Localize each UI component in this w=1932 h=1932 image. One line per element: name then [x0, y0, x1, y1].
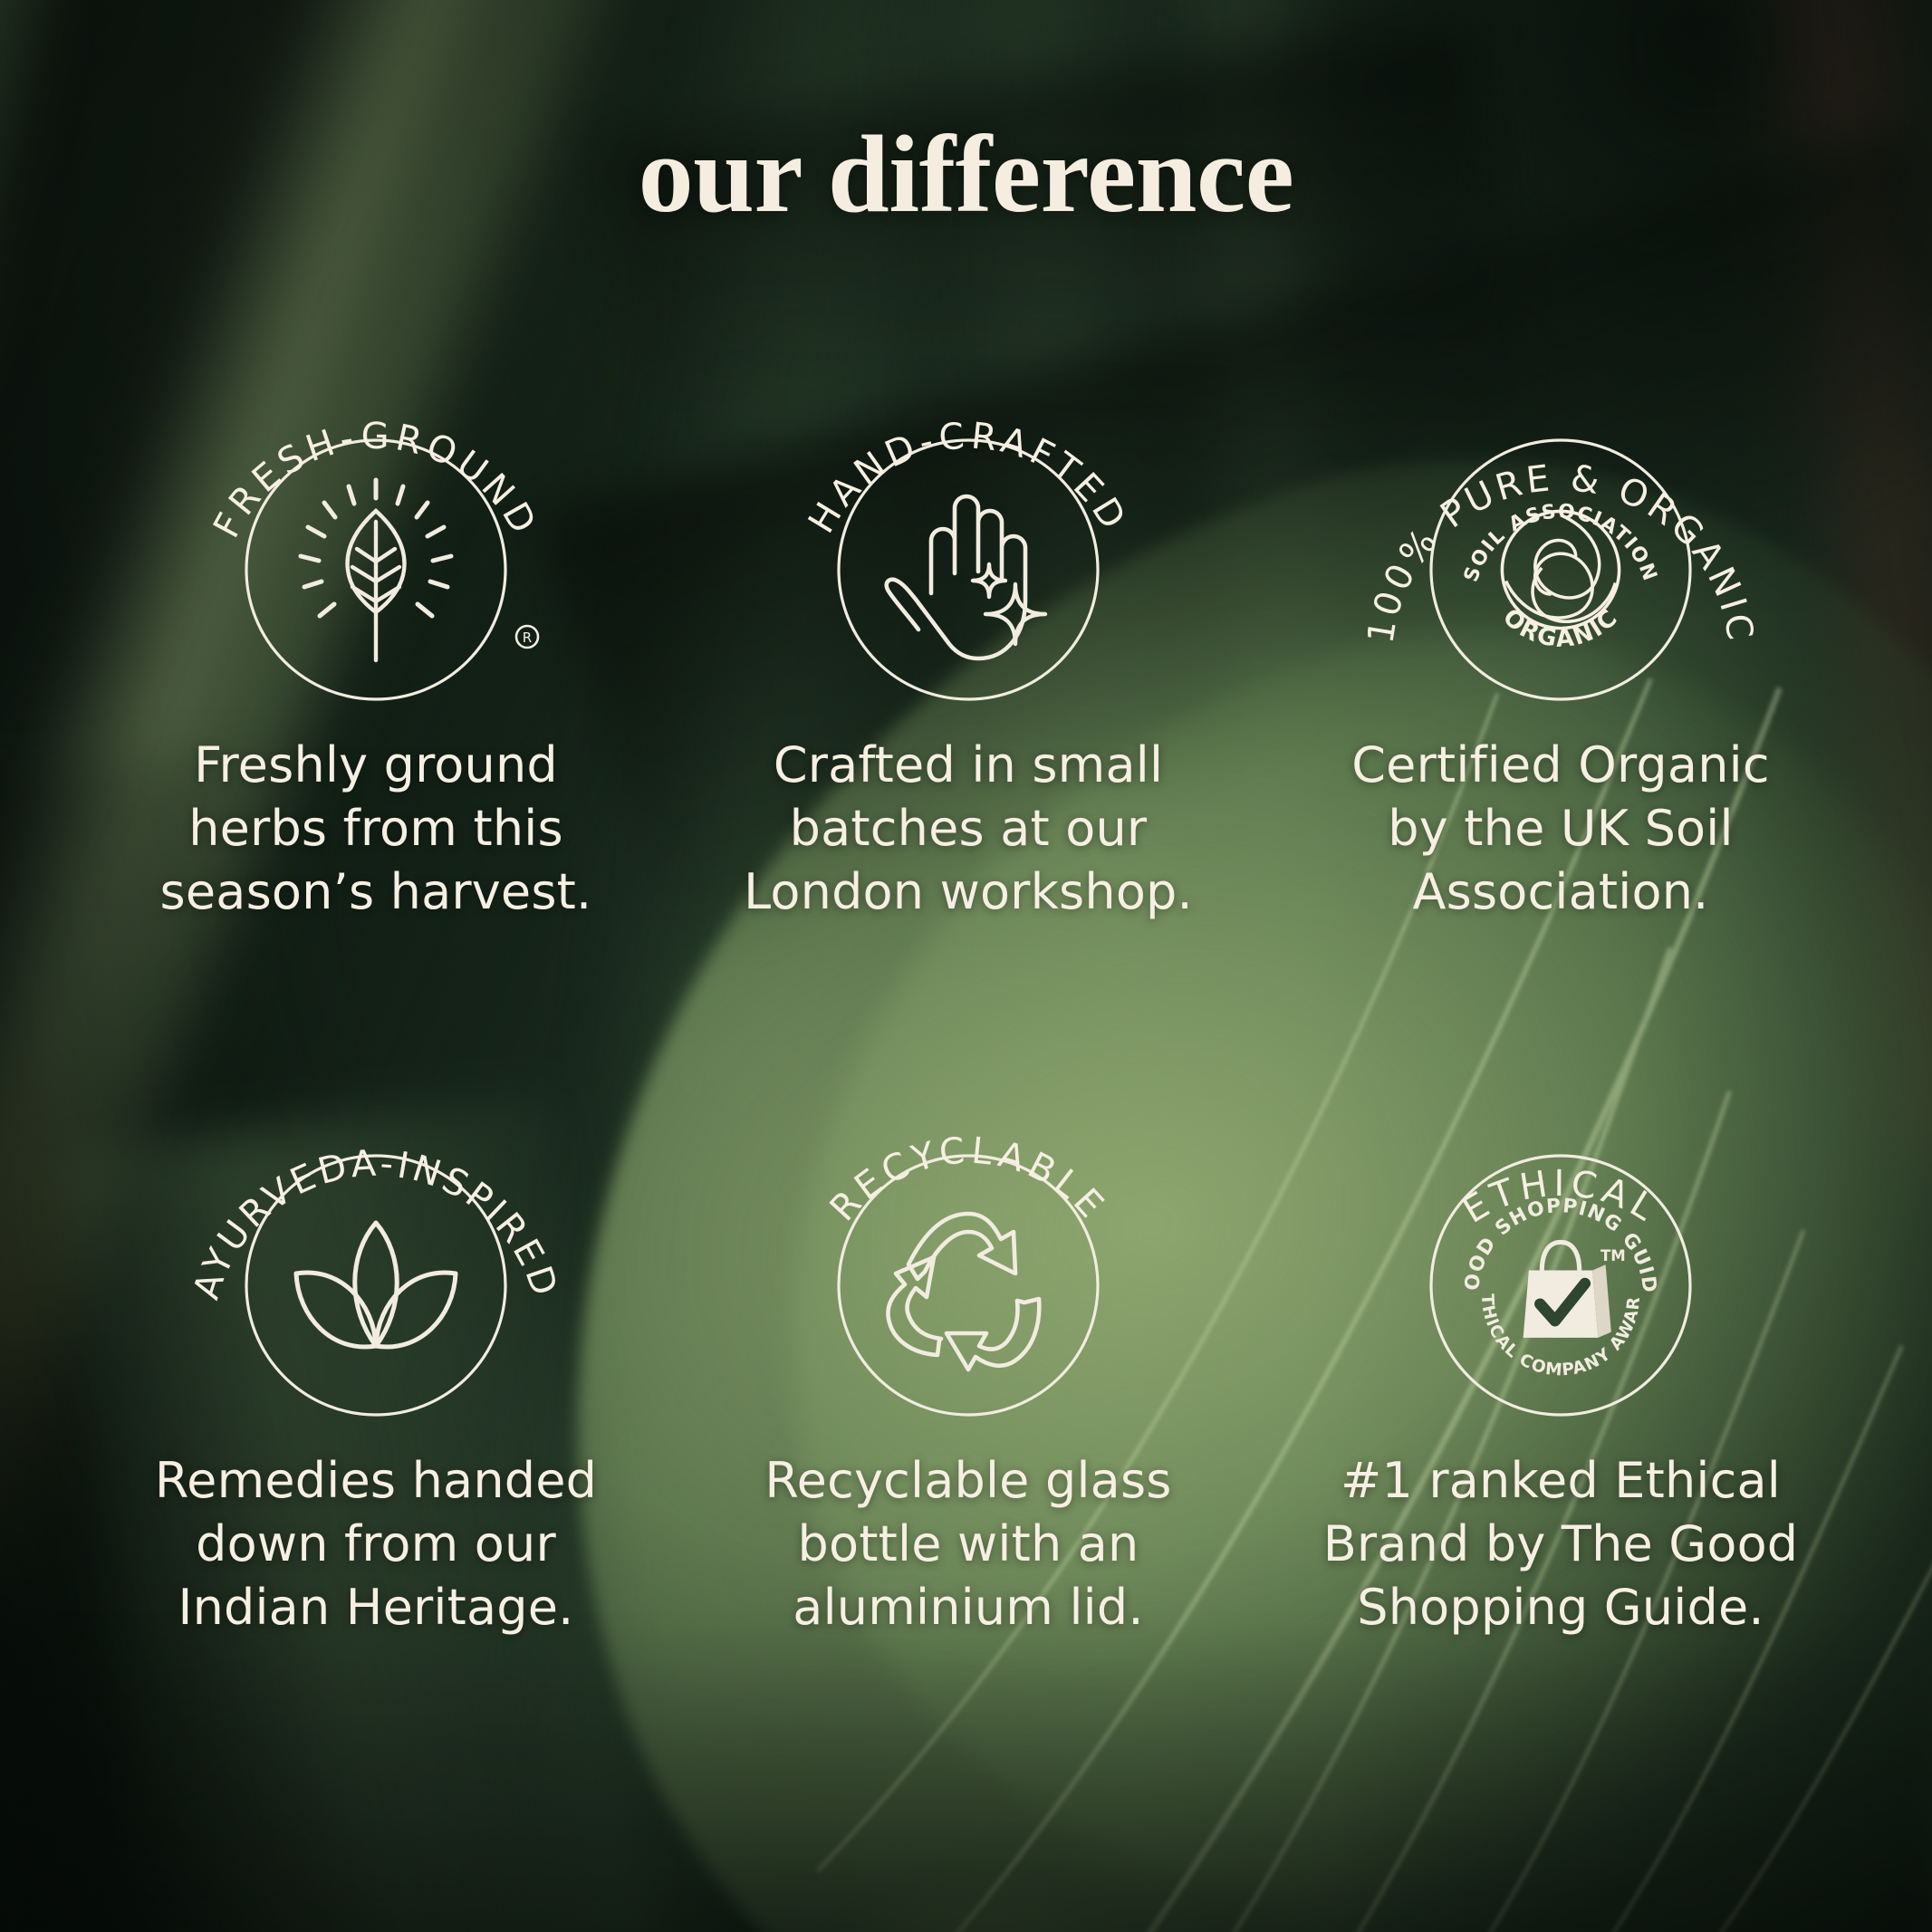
badge-medallion: ETHICAL GOOD SHOPPING GUIDE ETHICAL C: [1307, 1051, 1814, 1445]
caption-line: bottle with an: [715, 1513, 1222, 1576]
badge-caption: Remedies handed down from our Indian Her…: [122, 1449, 630, 1640]
recycling-arrows-icon: [855, 1172, 1081, 1399]
open-hand-with-sparkles-icon: [855, 457, 1081, 683]
badge-fresh-ground[interactable]: FRESH-GROUND R: [122, 335, 630, 729]
caption-line: season’s harvest.: [122, 860, 630, 924]
soil-association-top-text: SOIL ASSOCIATION: [1460, 500, 1661, 584]
shopping-bag-icon: [1523, 1242, 1611, 1337]
svg-text:R: R: [523, 630, 532, 646]
svg-text:SOIL ASSOCIATION: SOIL ASSOCIATION: [1460, 500, 1661, 584]
caption-line: Remedies handed: [122, 1449, 630, 1513]
caption-line: Indian Heritage.: [122, 1576, 630, 1639]
badge-pure-organic[interactable]: 100% PURE & ORGANIC SOIL ASSOCIATION: [1307, 335, 1814, 729]
caption-line: batches at our: [715, 797, 1222, 860]
page-title: our difference: [0, 120, 1932, 230]
caption-line: down from our: [122, 1513, 630, 1576]
badge-hand-crafted[interactable]: HAND-CRAFTED Crafted: [715, 335, 1222, 729]
badge-ethical[interactable]: ETHICAL GOOD SHOPPING GUIDE ETHICAL C: [1307, 1051, 1814, 1445]
badge-caption: #1 ranked Ethical Brand by The Good Shop…: [1307, 1449, 1814, 1640]
caption-line: Recyclable glass: [715, 1449, 1222, 1513]
caption-line: #1 ranked Ethical: [1307, 1449, 1814, 1513]
badge-medallion: RECYCLABLE: [715, 1051, 1222, 1445]
badge-ayurveda-inspired[interactable]: AYURVEDA-INSPIRED Remedies handed down: [122, 1051, 630, 1445]
badge-caption: Recyclable glass bottle with an aluminiu…: [715, 1449, 1222, 1640]
caption-line: Association.: [1307, 860, 1814, 924]
caption-line: by the UK Soil: [1307, 797, 1814, 860]
leaf-with-rays-icon: [263, 457, 489, 683]
caption-line: Brand by The Good: [1307, 1513, 1814, 1576]
caption-line: Freshly ground: [122, 734, 630, 797]
badge-medallion: 100% PURE & ORGANIC SOIL ASSOCIATION: [1307, 335, 1814, 729]
gsg-trademark: TM: [1600, 1247, 1626, 1264]
badge-caption: Certified Organic by the UK Soil Associa…: [1307, 734, 1814, 925]
caption-line: Crafted in small: [715, 734, 1222, 797]
badge-medallion: FRESH-GROUND R: [122, 335, 630, 729]
caption-line: herbs from this: [122, 797, 630, 860]
badge-caption: Freshly ground herbs from this season’s …: [122, 734, 630, 925]
registered-trademark-icon: R: [516, 626, 538, 648]
caption-line: aluminium lid.: [715, 1576, 1222, 1639]
badge-medallion: HAND-CRAFTED: [715, 335, 1222, 729]
good-shopping-guide-award-icon: GOOD SHOPPING GUIDE ETHICAL COMPANY AWAR…: [1447, 1172, 1674, 1399]
lotus-leaves-icon: [263, 1172, 489, 1399]
caption-line: London workshop.: [715, 860, 1222, 924]
badge-medallion: AYURVEDA-INSPIRED: [122, 1051, 630, 1445]
soil-association-organic-icon: SOIL ASSOCIATION ORGANIC: [1447, 457, 1674, 683]
caption-line: Shopping Guide.: [1307, 1576, 1814, 1639]
badge-recyclable[interactable]: RECYCLABLE Recyclable glass bottle with: [715, 1051, 1222, 1445]
caption-line: Certified Organic: [1307, 734, 1814, 797]
badge-caption: Crafted in small batches at our London w…: [715, 734, 1222, 925]
